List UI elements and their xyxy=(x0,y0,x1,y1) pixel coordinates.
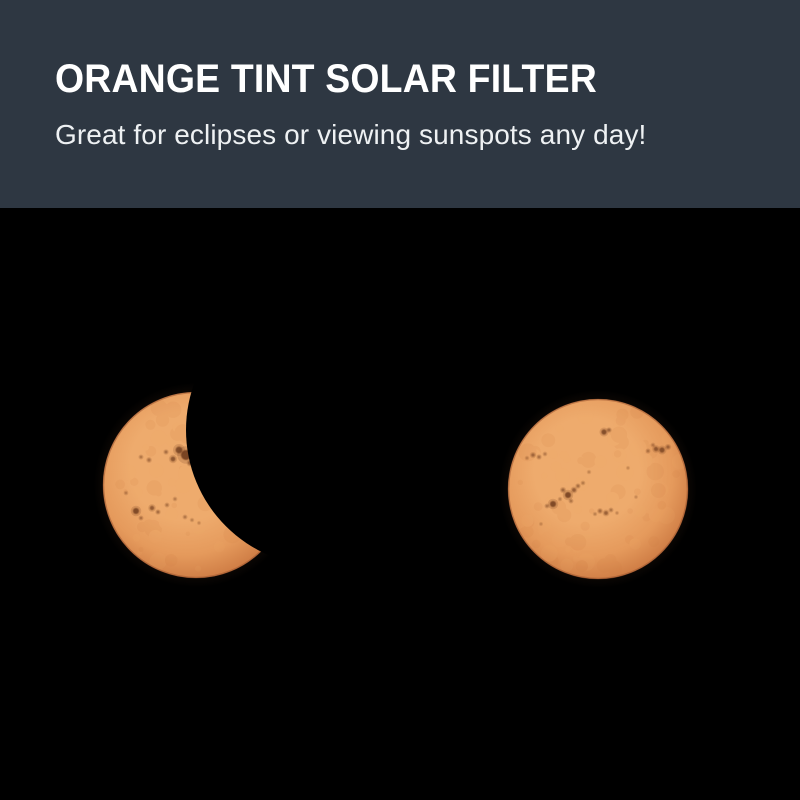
page-subtitle: Great for eclipses or viewing sunspots a… xyxy=(55,118,646,152)
page-title: ORANGE TINT SOLAR FILTER xyxy=(55,57,597,101)
product-feature-image: ORANGE TINT SOLAR FILTER Great for eclip… xyxy=(0,0,800,800)
partial-eclipse-sun-figure xyxy=(36,325,356,725)
solar-photo-panel xyxy=(0,208,800,800)
full-disk-sun-figure xyxy=(468,359,728,619)
full-disk-sun-image xyxy=(468,359,728,619)
header-banner: ORANGE TINT SOLAR FILTER Great for eclip… xyxy=(0,0,800,208)
partial-eclipse-sun-image xyxy=(36,325,356,725)
